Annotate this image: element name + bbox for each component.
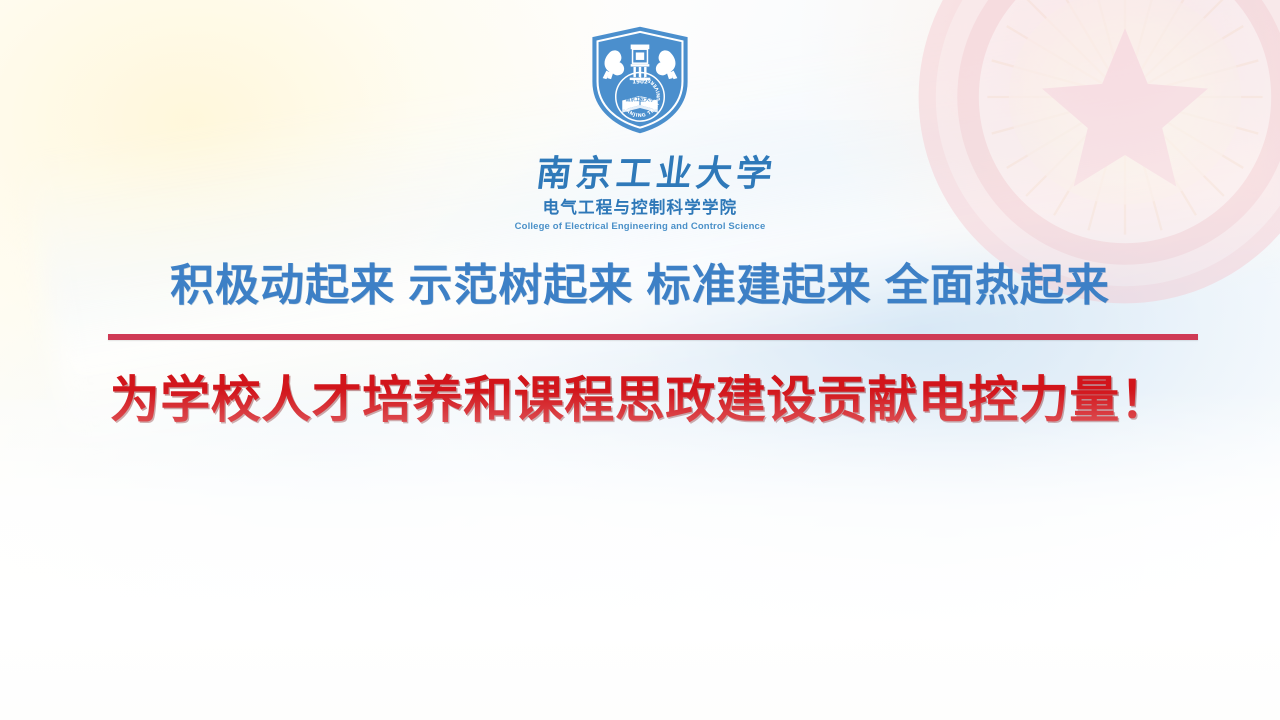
red-divider: [108, 334, 1198, 340]
background-bottom-fade: [0, 390, 1280, 720]
headline-blue: 积极动起来 示范树起来 标准建起来 全面热起来: [0, 262, 1280, 310]
university-wordmark-cn: 南京工业大学: [462, 150, 818, 198]
presentation-slide: 1902 南京工业大学 NANJING TECH UNIVERSITY 南京工业…: [0, 0, 1280, 720]
college-name-cn: 电气工程与控制科学学院: [543, 200, 738, 217]
svg-text:南京工业大学: 南京工业大学: [534, 154, 779, 195]
svg-text:南京工业大学: 南京工业大学: [625, 96, 654, 103]
nanjing-tech-crest-icon: 1902 南京工业大学 NANJING TECH UNIVERSITY: [584, 24, 696, 136]
college-name-en: College of Electrical Engineering and Co…: [515, 222, 766, 232]
university-logo-block: 1902 南京工业大学 NANJING TECH UNIVERSITY 南京工业…: [0, 24, 1280, 231]
